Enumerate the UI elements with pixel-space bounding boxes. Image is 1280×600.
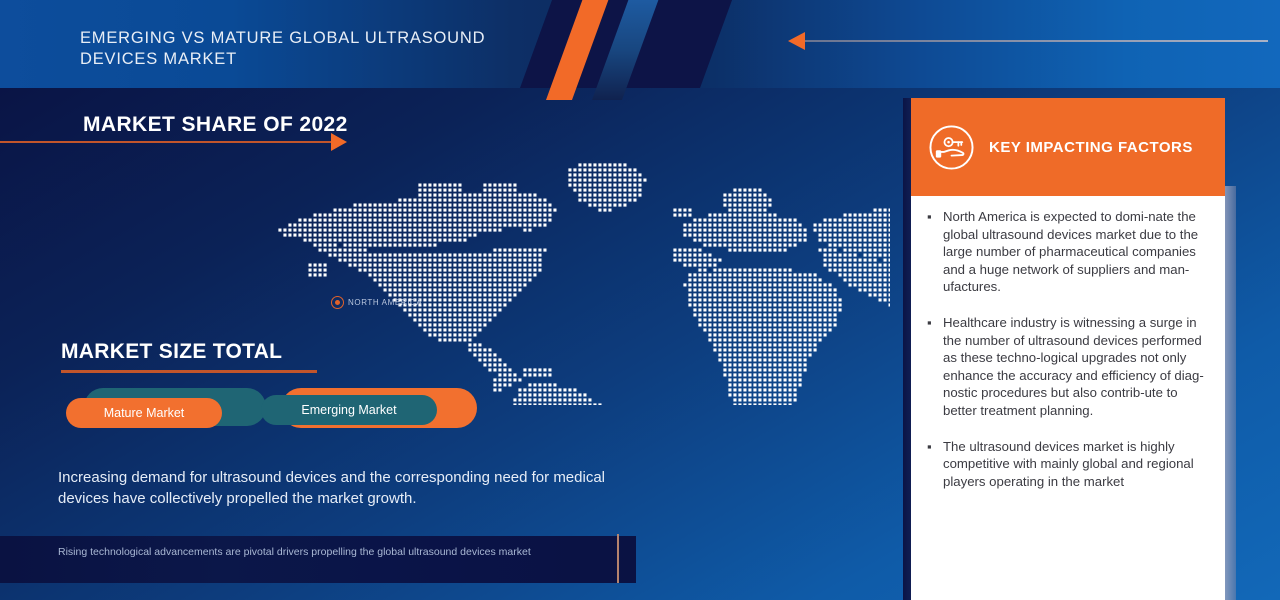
- market-size-underline: [61, 370, 317, 373]
- list-item-text: The ultrasound devices market is highly …: [943, 438, 1207, 491]
- world-map-dotted: [270, 145, 890, 405]
- market-share-title: MARKET SHARE OF 2022: [83, 113, 348, 137]
- list-item-text: North America is expected to domi-nate t…: [943, 208, 1207, 296]
- panel-title: KEY IMPACTING FACTORS: [989, 139, 1193, 156]
- bullet-icon: ▪: [927, 314, 943, 420]
- panel-drop-shadow: [1225, 186, 1236, 600]
- list-item: ▪ The ultrasound devices market is highl…: [927, 438, 1207, 491]
- key-impacting-factors-panel: KEY IMPACTING FACTORS ▪ North America is…: [911, 98, 1225, 600]
- header-arrow-line: [805, 40, 1268, 42]
- list-item-text: Healthcare industry is witnessing a surg…: [943, 314, 1207, 420]
- list-item: ▪ North America is expected to domi-nate…: [927, 208, 1207, 296]
- legend-pill-label-mature: Mature Market: [66, 398, 222, 428]
- footer-accent-line: [617, 534, 619, 583]
- page-title: EMERGING VS MATURE GLOBAL ULTRASOUND DEV…: [80, 28, 550, 70]
- location-target-icon: [331, 296, 344, 309]
- hand-holding-key-icon: [928, 124, 975, 171]
- panel-header: KEY IMPACTING FACTORS: [911, 98, 1225, 196]
- market-share-arrow-line: [0, 141, 332, 143]
- legend-pill-label-emerging: Emerging Market: [261, 395, 437, 425]
- key-factors-list: ▪ North America is expected to domi-nate…: [911, 208, 1225, 508]
- list-item: ▪ Healthcare industry is witnessing a su…: [927, 314, 1207, 420]
- legend-item-emerging-market[interactable]: Emerging Market: [261, 388, 461, 438]
- infographic-canvas: EMERGING VS MATURE GLOBAL ULTRASOUND DEV…: [0, 0, 1280, 600]
- header-arrow: [788, 32, 1268, 50]
- arrow-left-icon: [788, 32, 805, 50]
- map-marker-label: NORTH AMERICA: [348, 298, 422, 307]
- bullet-icon: ▪: [927, 438, 943, 491]
- bullet-icon: ▪: [927, 208, 943, 296]
- market-size-title: MARKET SIZE TOTAL: [61, 340, 282, 364]
- body-paragraph: Increasing demand for ultrasound devices…: [58, 468, 618, 509]
- footer-caption: Rising technological advancements are pi…: [58, 545, 578, 560]
- legend-item-mature-market[interactable]: Mature Market: [66, 388, 266, 438]
